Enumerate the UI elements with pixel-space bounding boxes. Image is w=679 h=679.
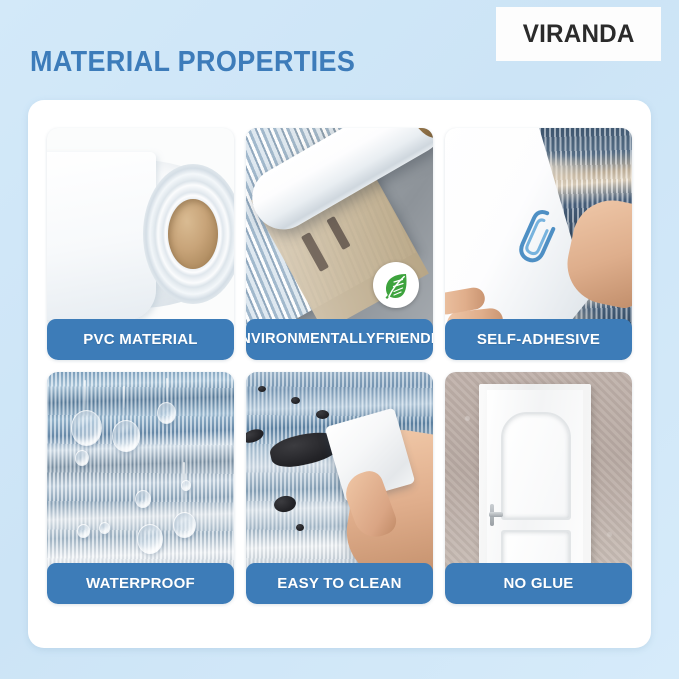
feature-card-easy-to-clean[interactable]: EASY TO CLEAN	[246, 372, 433, 604]
feature-card-environmentally-friendly[interactable]: ENVIRONMENTALLY FRIENDLY	[246, 128, 433, 360]
feature-label-line1: ENVIRONMENTALLY	[246, 332, 376, 347]
stain-spot	[291, 397, 300, 404]
feature-label-line2: FRIENDLY	[376, 332, 433, 347]
pvc-sheet	[47, 152, 156, 320]
page-title: MATERIAL PROPERTIES	[30, 46, 355, 79]
stain-spot	[246, 427, 265, 446]
droplet-trail-2	[123, 386, 125, 408]
features-grid: PVC MATERIAL	[47, 128, 632, 604]
feature-label-waterproof: WATERPROOF	[47, 563, 234, 604]
door-panel-upper	[501, 412, 571, 520]
feature-card-waterproof[interactable]: WATERPROOF	[47, 372, 234, 604]
feature-card-no-glue[interactable]: NO GLUE	[445, 372, 632, 604]
stain-spot	[316, 410, 329, 419]
feature-label-environmentally-friendly: ENVIRONMENTALLY FRIENDLY	[246, 319, 433, 360]
stain-spot	[296, 524, 304, 531]
feature-label-self-adhesive: SELF-ADHESIVE	[445, 319, 632, 360]
water-droplet	[77, 524, 90, 538]
stain-spot	[258, 386, 266, 392]
feature-card-self-adhesive[interactable]: SELF-ADHESIVE	[445, 128, 632, 360]
feature-card-pvc-material[interactable]: PVC MATERIAL	[47, 128, 234, 360]
water-droplet	[112, 420, 140, 452]
eco-roll-end-cap	[401, 128, 433, 143]
brand-logo: VIRANDA	[496, 7, 661, 61]
features-panel: PVC MATERIAL	[28, 100, 651, 648]
water-droplet	[173, 512, 196, 538]
water-droplet	[71, 410, 102, 446]
infographic-page: MATERIAL PROPERTIES VIRANDA PVC MATERIAL	[0, 0, 679, 679]
stain-spot	[273, 494, 297, 514]
feature-label-pvc-material: PVC MATERIAL	[47, 319, 234, 360]
pvc-cardboard-core	[168, 199, 218, 269]
droplet-trail-4	[183, 462, 185, 512]
water-droplet	[135, 490, 151, 508]
water-droplet	[99, 522, 110, 534]
droplet-trail-3	[166, 378, 168, 404]
feature-label-easy-to-clean: EASY TO CLEAN	[246, 563, 433, 604]
brand-logo-text: VIRANDA	[523, 20, 635, 49]
leaf-icon	[373, 262, 419, 308]
header: MATERIAL PROPERTIES VIRANDA	[0, 0, 679, 100]
feature-label-no-glue: NO GLUE	[445, 563, 632, 604]
water-droplet	[157, 402, 176, 424]
water-droplet	[137, 524, 163, 554]
door-handle	[489, 512, 503, 517]
water-droplet	[75, 450, 89, 466]
